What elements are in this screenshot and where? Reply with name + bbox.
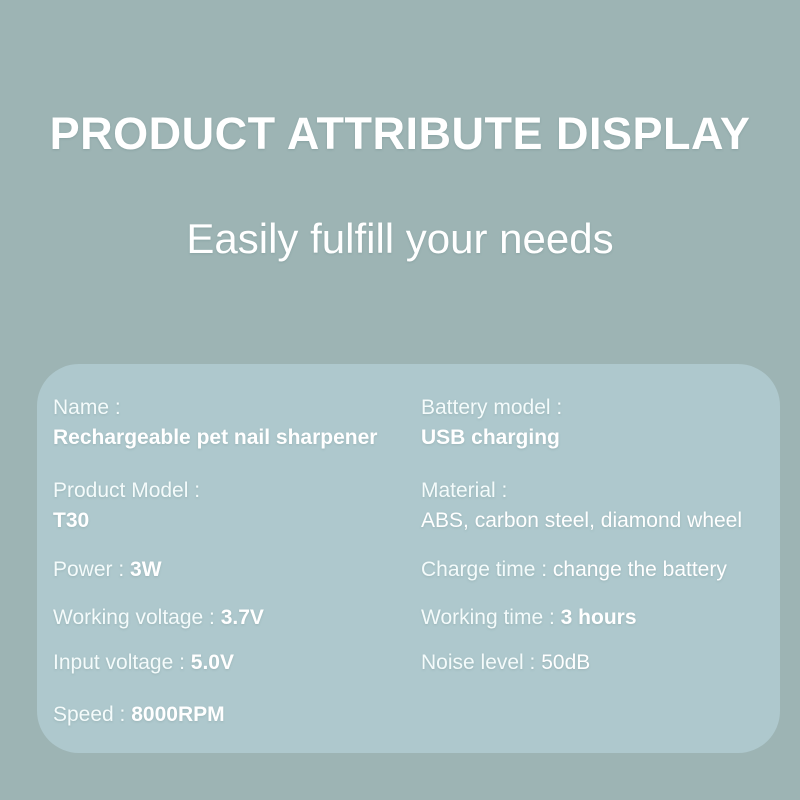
spec-value-working-time: 3 hours bbox=[555, 606, 637, 629]
product-attribute-page: PRODUCT ATTRIBUTE DISPLAY Easily fulfill… bbox=[0, 0, 800, 800]
spec-value-battery-model: USB charging bbox=[421, 424, 562, 451]
spec-row-speed: Speed : 8000RPM bbox=[53, 701, 225, 728]
specification-panel: Name : Rechargeable pet nail sharpener P… bbox=[37, 364, 780, 753]
spec-value-working-voltage: 3.7V bbox=[215, 606, 264, 629]
spec-value-material: ABS, carbon steel, diamond wheel bbox=[421, 507, 742, 534]
spec-row-material: Material : ABS, carbon steel, diamond wh… bbox=[421, 477, 742, 534]
spec-value-charge-time: change the battery bbox=[547, 558, 727, 581]
spec-label-working-voltage: Working voltage : bbox=[53, 606, 215, 629]
spec-value-input-voltage: 5.0V bbox=[185, 651, 234, 674]
spec-label-noise-level: Noise level : bbox=[421, 651, 535, 674]
spec-label-input-voltage: Input voltage : bbox=[53, 651, 185, 674]
spec-label-working-time: Working time : bbox=[421, 606, 555, 629]
spec-value-name: Rechargeable pet nail sharpener bbox=[53, 424, 377, 451]
spec-value-noise-level: 50dB bbox=[535, 651, 590, 674]
page-subtitle: Easily fulfill your needs bbox=[0, 212, 800, 266]
spec-row-working-voltage: Working voltage : 3.7V bbox=[53, 604, 264, 631]
spec-value-speed: 8000RPM bbox=[125, 703, 224, 726]
spec-row-name: Name : Rechargeable pet nail sharpener bbox=[53, 394, 377, 451]
spec-row-product-model: Product Model : T30 bbox=[53, 477, 200, 534]
spec-row-noise-level: Noise level : 50dB bbox=[421, 649, 590, 676]
spec-label-battery-model: Battery model : bbox=[421, 396, 562, 419]
spec-row-battery-model: Battery model : USB charging bbox=[421, 394, 562, 451]
spec-label-material: Material : bbox=[421, 479, 507, 502]
spec-row-working-time: Working time : 3 hours bbox=[421, 604, 637, 631]
spec-label-power: Power : bbox=[53, 558, 124, 581]
spec-value-product-model: T30 bbox=[53, 507, 200, 534]
spec-row-charge-time: Charge time : change the battery bbox=[421, 556, 727, 583]
spec-label-name: Name : bbox=[53, 396, 121, 419]
spec-label-speed: Speed : bbox=[53, 703, 125, 726]
spec-label-product-model: Product Model : bbox=[53, 479, 200, 502]
page-title: PRODUCT ATTRIBUTE DISPLAY bbox=[0, 106, 800, 162]
spec-row-input-voltage: Input voltage : 5.0V bbox=[53, 649, 234, 676]
spec-label-charge-time: Charge time : bbox=[421, 558, 547, 581]
spec-value-power: 3W bbox=[124, 558, 161, 581]
spec-row-power: Power : 3W bbox=[53, 556, 162, 583]
